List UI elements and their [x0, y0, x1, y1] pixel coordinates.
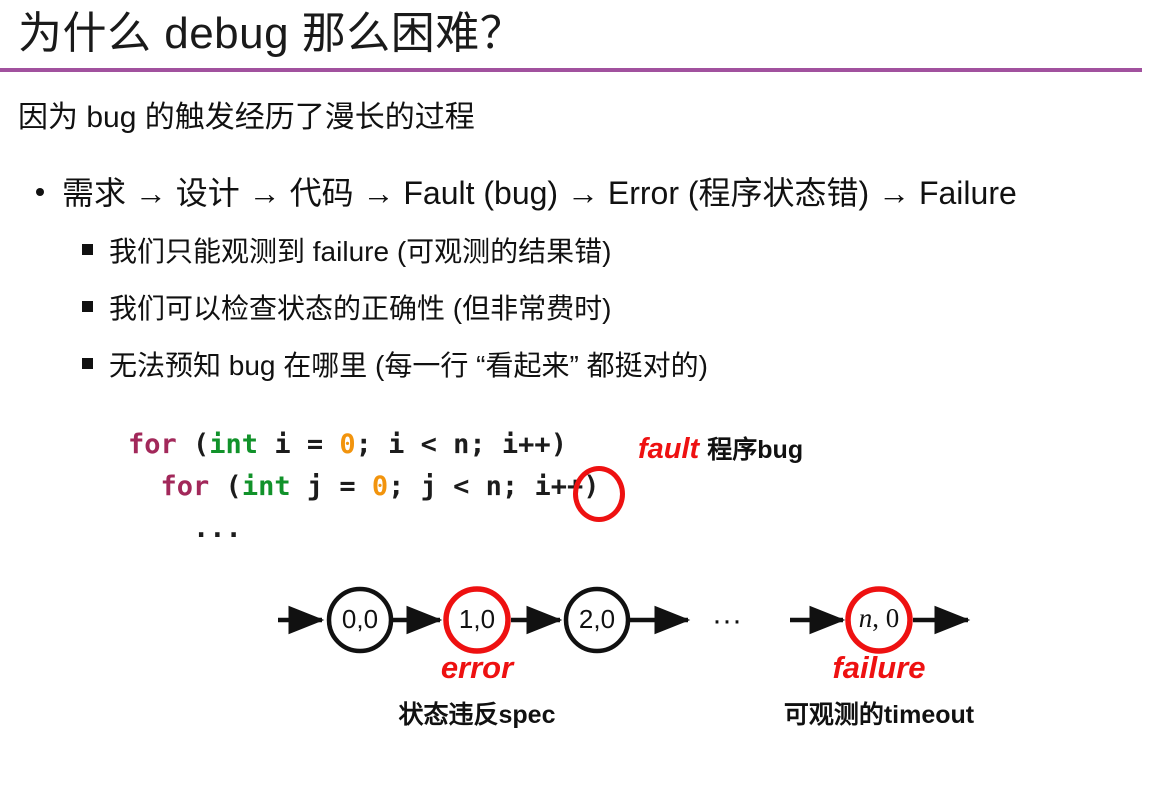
failure-label: failure: [832, 650, 925, 685]
square-bullet-icon: [82, 244, 93, 255]
list-item: 无法预知 bug 在哪里 (每一行 “看起来” 都挺对的): [82, 346, 1042, 385]
state-node-sn-label: n, 0: [859, 603, 900, 633]
title-divider: [0, 68, 1142, 72]
code-number: 0: [339, 429, 355, 460]
code-type: int: [242, 471, 291, 502]
state-node-s2-label: 2,0: [579, 604, 615, 634]
code-text: ; i < n; i++): [356, 429, 567, 460]
sub-bullet-label: 无法预知 bug 在哪里 (每一行 “看起来” 都挺对的): [109, 346, 708, 385]
code-punct: (: [177, 429, 210, 460]
code-text: i =: [258, 429, 339, 460]
state-node-s0-label: 0,0: [342, 604, 378, 634]
bullet-label: 需求 → 设计 → 代码 → Fault (bug) → Error (程序状态…: [62, 172, 1017, 214]
state-node-sn-label-n: n: [859, 603, 873, 633]
diagram-ellipsis: ···: [712, 604, 742, 637]
code-type: int: [209, 429, 258, 460]
page-title: 为什么 debug 那么困难？: [18, 6, 524, 62]
state-node-sn-label-rest: , 0: [872, 603, 899, 633]
fault-label: fault: [638, 433, 699, 465]
fault-annotation: fault 程序bug: [638, 430, 803, 469]
state-diagram: ··· 0,0 1,0 error 状态违反spec 2,0 n, 0 fail…: [0, 560, 1154, 740]
error-label: error: [441, 650, 515, 685]
square-bullet-icon: [82, 358, 93, 369]
code-block: for (int i = 0; i < n; i++) for (int j =…: [128, 424, 599, 550]
sub-bullet-label: 我们可以检查状态的正确性 (但非常费时): [109, 289, 611, 328]
square-bullet-icon: [82, 301, 93, 312]
code-indent: [128, 471, 161, 502]
code-punct: (: [209, 471, 242, 502]
code-ellipsis: ...: [128, 513, 242, 544]
failure-caption: 可观测的timeout: [784, 700, 975, 729]
fault-label-cn: 程序bug: [707, 436, 803, 464]
list-item: 我们可以检查状态的正确性 (但非常费时): [82, 289, 1042, 328]
code-text: j =: [291, 471, 372, 502]
list-item: 我们只能观测到 failure (可观测的结果错): [82, 232, 1042, 271]
dot-bullet-icon: [36, 188, 44, 196]
code-text: ; j < n; i++): [388, 471, 599, 502]
state-node-s1-label: 1,0: [459, 604, 495, 634]
code-keyword: for: [128, 429, 177, 460]
code-highlight-circle-icon: [573, 466, 625, 522]
sub-bullet-list: 我们只能观测到 failure (可观测的结果错) 我们可以检查状态的正确性 (…: [82, 232, 1042, 403]
bullet-item-pipeline: 需求 → 设计 → 代码 → Fault (bug) → Error (程序状态…: [36, 172, 1017, 214]
slide-canvas: 为什么 debug 那么困难？ 因为 bug 的触发经历了漫长的过程 需求 → …: [0, 0, 1154, 802]
code-number: 0: [372, 471, 388, 502]
sub-bullet-label: 我们只能观测到 failure (可观测的结果错): [109, 232, 611, 271]
subtitle-text: 因为 bug 的触发经历了漫长的过程: [18, 98, 475, 138]
code-keyword: for: [161, 471, 210, 502]
error-caption: 状态违反spec: [399, 701, 556, 729]
